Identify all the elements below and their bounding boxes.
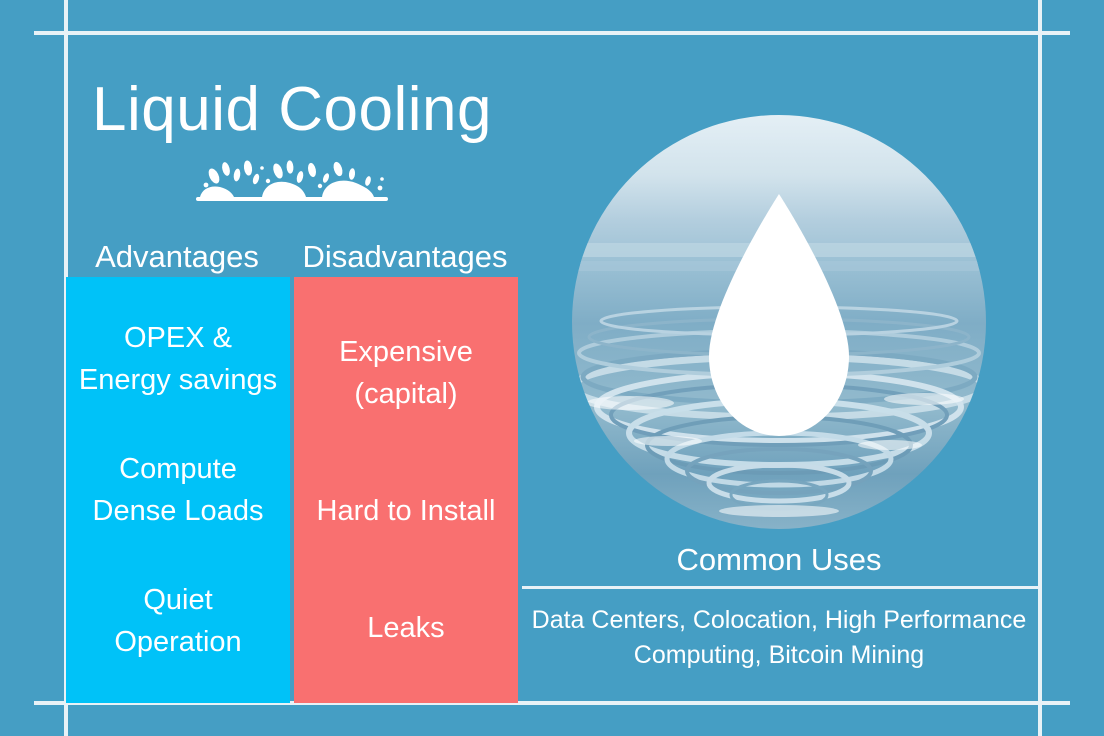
disadvantages-panel: Expensive (capital) Hard to Install Leak…	[294, 277, 518, 703]
common-uses-body: Data Centers, Colocation, High Performan…	[526, 603, 1032, 673]
advantage-item: Compute Dense Loads	[93, 448, 264, 532]
disadvantage-item: Leaks	[367, 607, 444, 649]
infographic-canvas: Liquid Cooling	[0, 0, 1104, 736]
water-ripple-image	[572, 115, 986, 529]
common-uses-divider	[522, 586, 1038, 589]
page-title: Liquid Cooling	[64, 79, 520, 141]
right-section: Common Uses Data Centers, Colocation, Hi…	[520, 31, 1038, 705]
column-header-advantages: Advantages	[64, 241, 290, 272]
disadvantage-item: Hard to Install	[317, 490, 496, 532]
advantage-item: OPEX & Energy savings	[79, 317, 277, 401]
frame-line-vertical-right	[1038, 0, 1042, 736]
water-droplet-icon	[699, 190, 859, 440]
common-uses-heading: Common Uses	[520, 544, 1038, 575]
column-header-disadvantages: Disadvantages	[290, 241, 520, 272]
column-headers: Advantages Disadvantages	[64, 241, 520, 272]
water-splash-icon	[192, 159, 392, 205]
disadvantage-item: Expensive (capital)	[339, 331, 473, 415]
advantages-panel: OPEX & Energy savings Compute Dense Load…	[66, 277, 290, 703]
advantage-item: Quiet Operation	[114, 579, 241, 663]
comparison-panels: OPEX & Energy savings Compute Dense Load…	[66, 277, 518, 703]
left-section: Liquid Cooling	[64, 31, 520, 705]
